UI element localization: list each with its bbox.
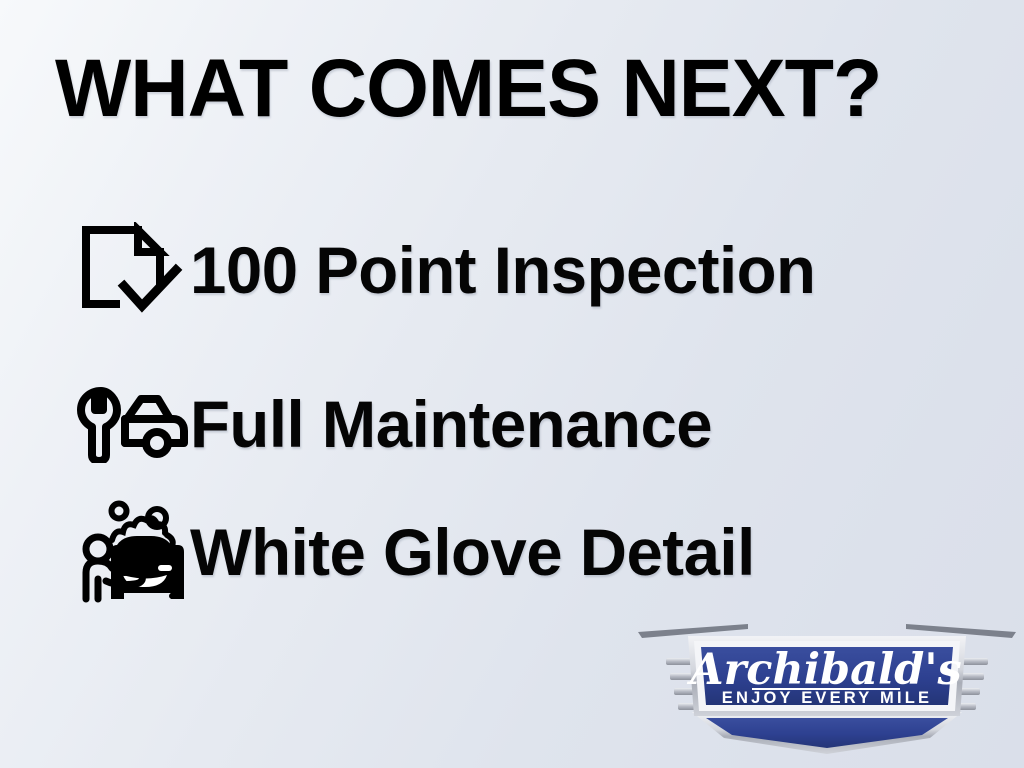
logo-chevron-fill [706,718,948,748]
slide-canvas: WHAT COMES NEXT? 100 Point Inspection [0,0,1024,768]
page-title: WHAT COMES NEXT? [55,48,971,130]
feature-row: Full Maintenance [72,372,1012,476]
dealer-logo: Archibald's ENJOY EVERY MILE [630,618,1024,758]
logo-wing-left [638,624,748,638]
logo-tagline: ENJOY EVERY MILE [722,689,932,707]
feature-label: Full Maintenance [190,391,712,457]
wrench-car-icon [72,372,190,476]
feature-row: White Glove Detail [72,500,1012,604]
logo-wordmark: Archibald's [686,645,962,695]
feature-row: 100 Point Inspection [72,218,1012,322]
car-wash-icon [72,500,190,604]
document-check-icon [72,218,190,322]
feature-label: 100 Point Inspection [190,237,815,303]
feature-label: White Glove Detail [190,519,755,585]
logo-wing-right [906,624,1016,638]
